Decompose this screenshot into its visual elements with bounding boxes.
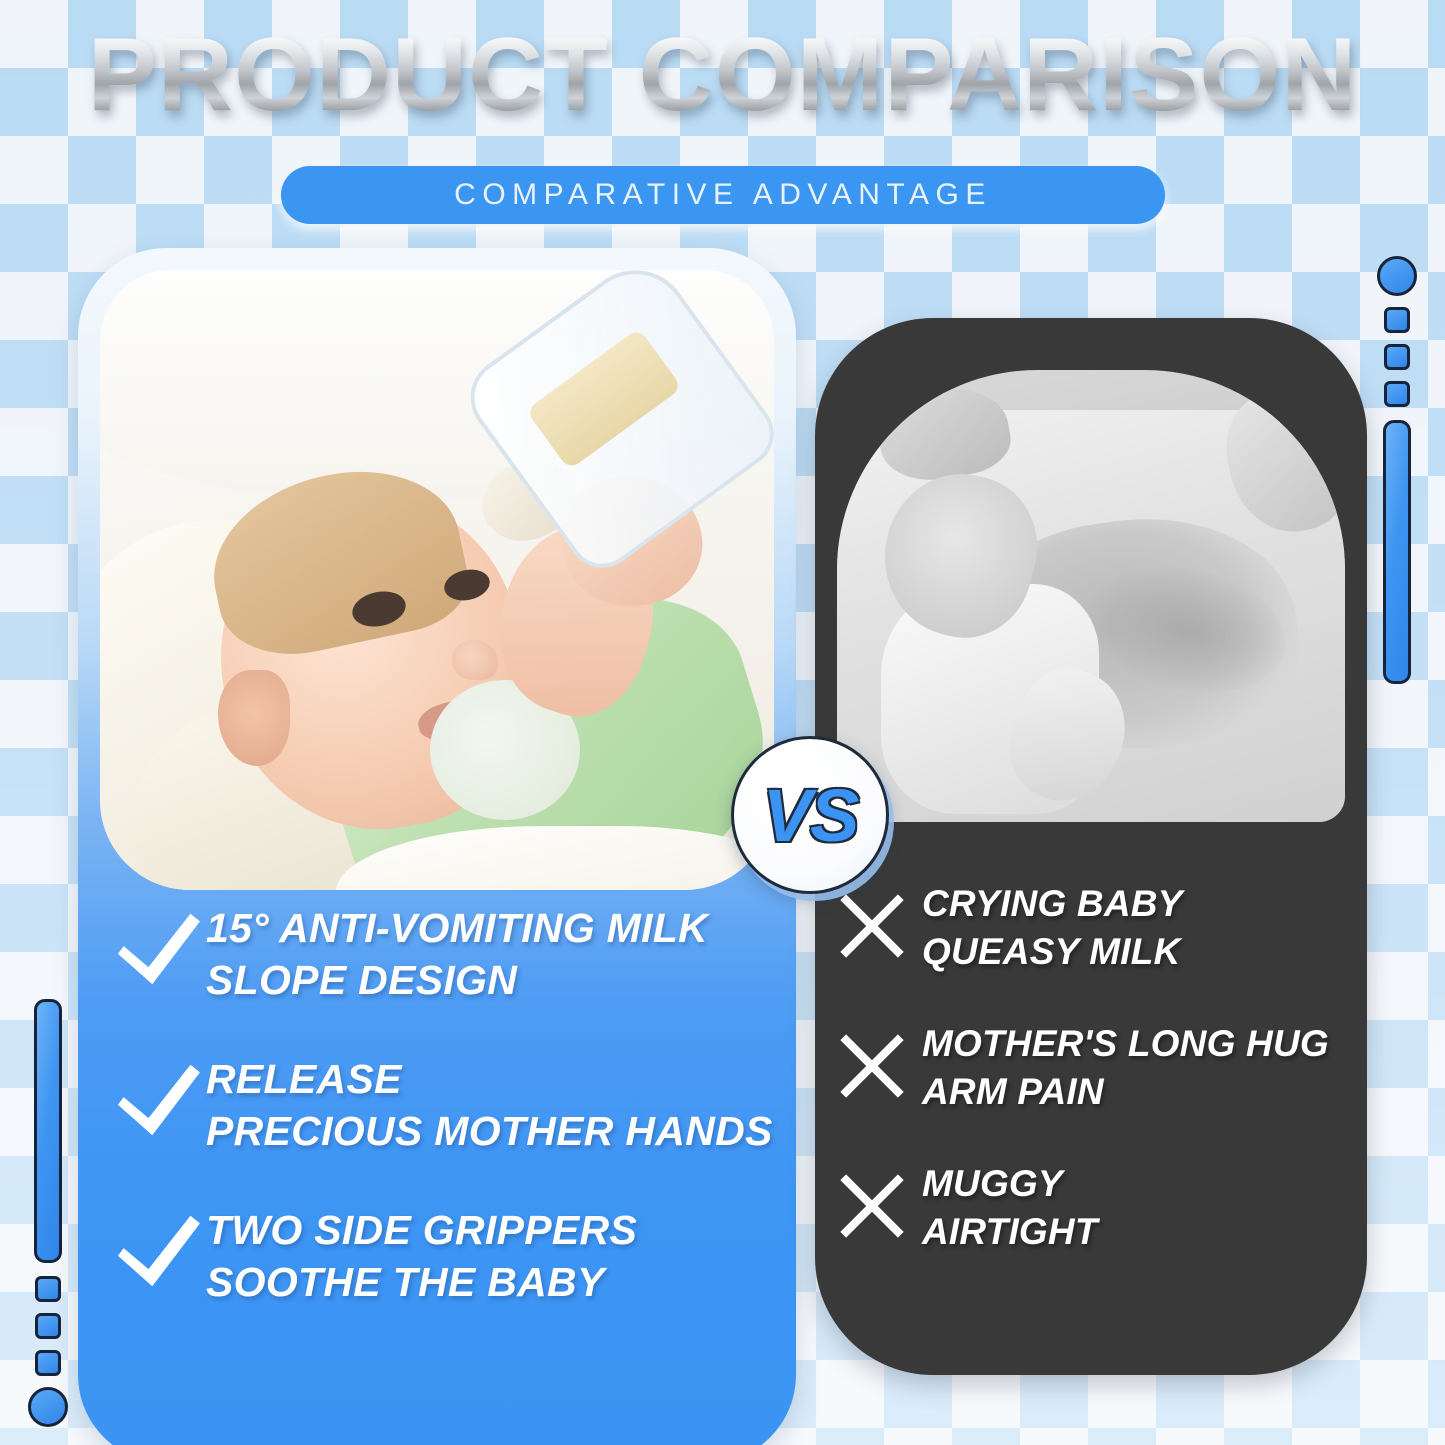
list-item-label: TWO SIDE GRIPPERS SOOTHE THE BABY: [206, 1204, 637, 1309]
list-item-line2: PRECIOUS MOTHER HANDS: [206, 1108, 773, 1154]
list-item-label: MUGGY AIRTIGHT: [922, 1160, 1098, 1256]
decor-rail-top-right: [1377, 256, 1417, 684]
list-item: 15° ANTI-VOMITING MILK SLOPE DESIGN: [110, 902, 800, 1007]
list-item-label: MOTHER'S LONG HUG ARM PAIN: [922, 1020, 1329, 1116]
check-icon: [110, 908, 206, 995]
vs-badge: VS: [731, 736, 889, 894]
decor-circle-icon: [1377, 256, 1417, 296]
decor-bar-icon: [34, 999, 62, 1263]
x-icon: [836, 1030, 922, 1107]
disadvantage-product-photo: [837, 370, 1345, 822]
list-item-line1: 15° ANTI-VOMITING MILK: [206, 905, 708, 951]
list-item: CRYING BABY QUEASY MILK: [836, 880, 1366, 976]
list-item-label: 15° ANTI-VOMITING MILK SLOPE DESIGN: [206, 902, 708, 1007]
subtitle-text: COMPARATIVE ADVANTAGE: [454, 178, 992, 212]
list-item-label: CRYING BABY QUEASY MILK: [922, 880, 1183, 976]
list-item-line1: TWO SIDE GRIPPERS: [206, 1207, 637, 1253]
decor-rail-bottom-left: [28, 999, 68, 1427]
list-item: MOTHER'S LONG HUG ARM PAIN: [836, 1020, 1366, 1116]
list-item: TWO SIDE GRIPPERS SOOTHE THE BABY: [110, 1204, 800, 1309]
advantage-feature-list: 15° ANTI-VOMITING MILK SLOPE DESIGN RELE…: [110, 902, 800, 1355]
list-item-line1: CRYING BABY: [922, 883, 1183, 924]
infographic-canvas: PRODUCT COMPARISON COMPARATIVE ADVANTAGE: [0, 0, 1445, 1445]
decor-circle-icon: [28, 1387, 68, 1427]
vs-label: VS: [763, 773, 858, 858]
photo-shape-baby-nose: [452, 640, 498, 680]
decor-square-icon: [35, 1313, 61, 1339]
decor-square-icon: [1384, 344, 1410, 370]
decor-square-icon: [35, 1350, 61, 1376]
list-item-label: RELEASE PRECIOUS MOTHER HANDS: [206, 1053, 773, 1158]
decor-square-icon: [1384, 307, 1410, 333]
x-icon: [836, 1170, 922, 1247]
subtitle-banner: COMPARATIVE ADVANTAGE: [281, 166, 1165, 224]
list-item: RELEASE PRECIOUS MOTHER HANDS: [110, 1053, 800, 1158]
decor-bar-icon: [1383, 420, 1411, 684]
check-icon: [110, 1059, 206, 1146]
list-item-line1: MUGGY: [922, 1163, 1063, 1204]
page-title: PRODUCT COMPARISON: [0, 18, 1445, 132]
advantage-product-photo: [100, 270, 774, 890]
list-item-line1: MOTHER'S LONG HUG: [922, 1023, 1329, 1064]
list-item-line1: RELEASE: [206, 1056, 402, 1102]
decor-square-icon: [1384, 381, 1410, 407]
decor-square-icon: [35, 1276, 61, 1302]
check-icon: [110, 1210, 206, 1297]
list-item-line2: QUEASY MILK: [922, 931, 1181, 972]
list-item: MUGGY AIRTIGHT: [836, 1160, 1366, 1256]
list-item-line2: SOOTHE THE BABY: [206, 1259, 605, 1305]
list-item-line2: SLOPE DESIGN: [206, 957, 517, 1003]
list-item-line2: AIRTIGHT: [922, 1211, 1098, 1252]
list-item-line2: ARM PAIN: [922, 1071, 1104, 1112]
disadvantage-feature-list: CRYING BABY QUEASY MILK MOTHER'S LONG HU…: [836, 880, 1366, 1301]
x-icon: [836, 890, 922, 967]
